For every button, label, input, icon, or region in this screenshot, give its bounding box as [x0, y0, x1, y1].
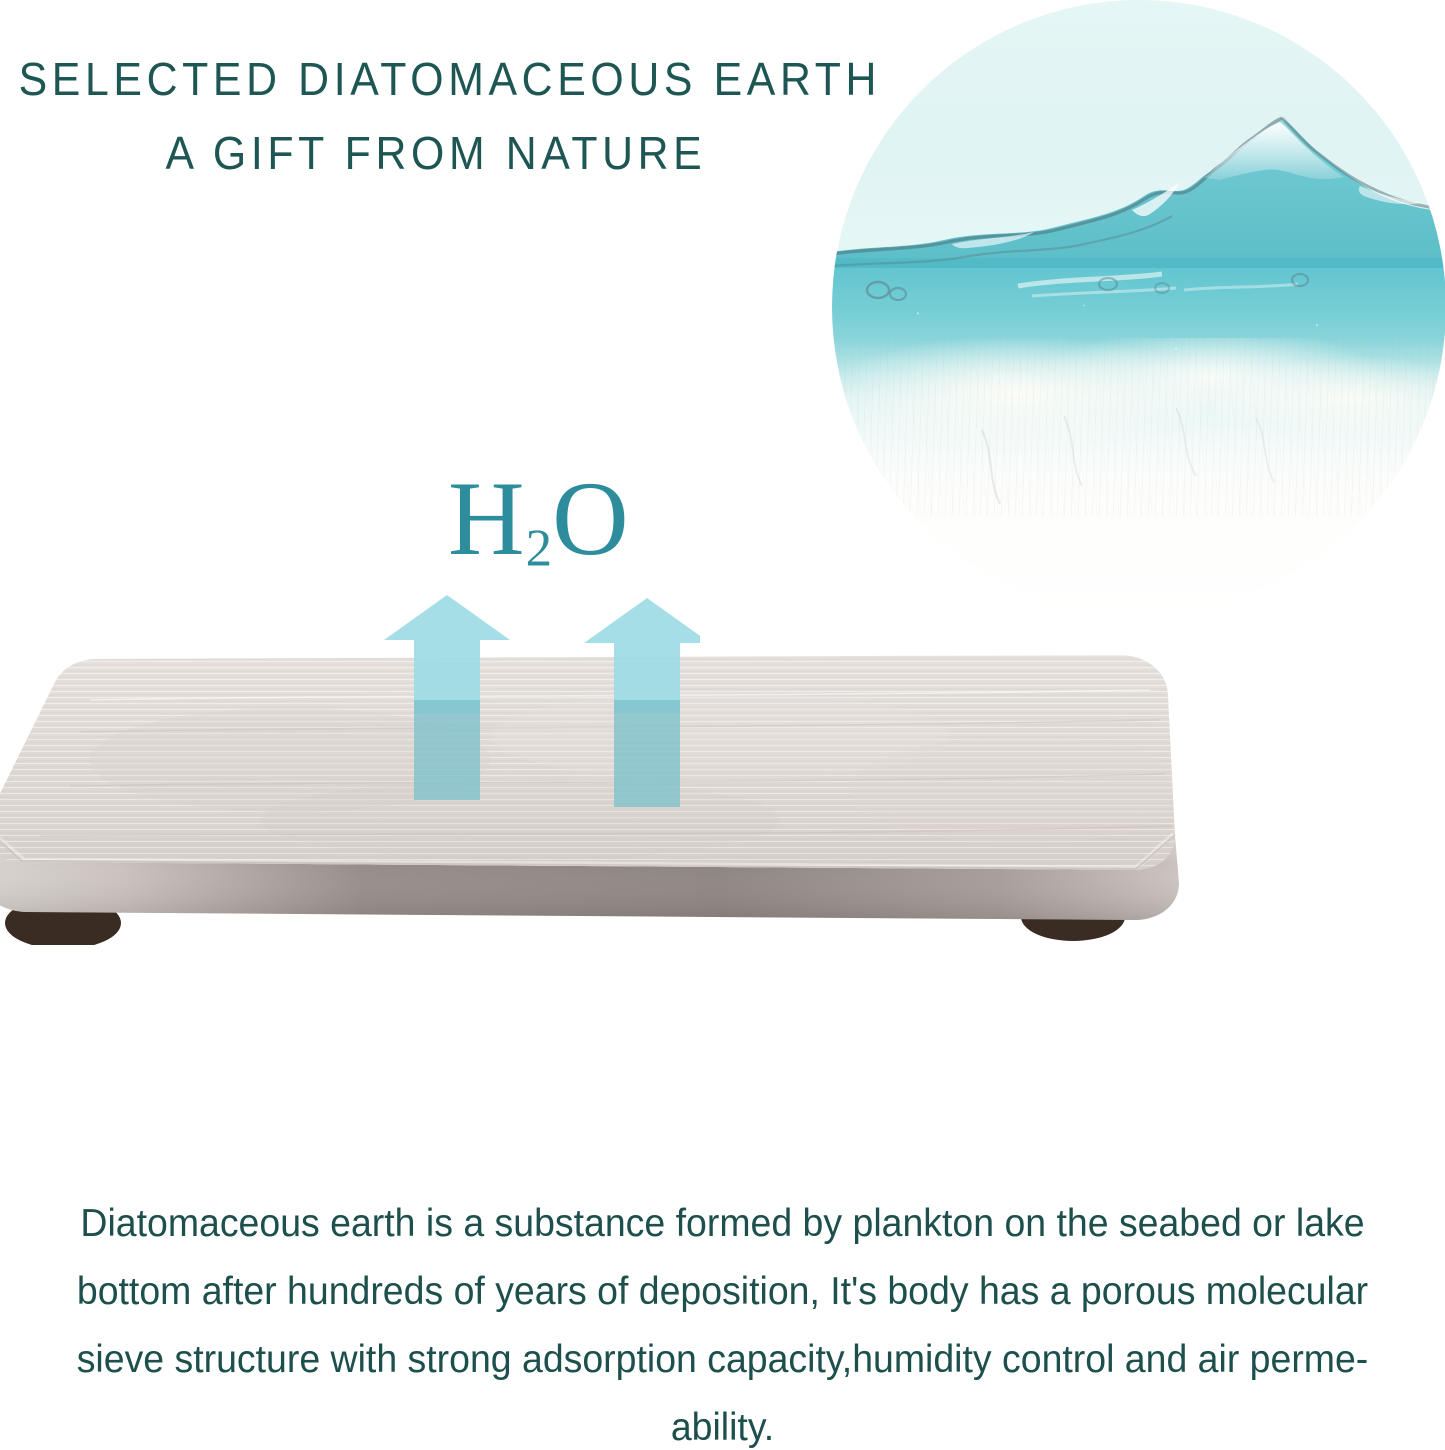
caption-line-3: sieve structure with strong adsorption c… [29, 1326, 1416, 1394]
water-splash-crest-icon [832, 0, 1445, 614]
caption-line-2: bottom after hundreds of years of deposi… [29, 1258, 1416, 1326]
up-arrow-shaft-over-mat-group [360, 700, 700, 812]
water-with-settled-powder-circle [832, 0, 1445, 614]
up-arrow-icon-group [360, 588, 700, 713]
h2o-label: H2O [448, 466, 630, 572]
arrow-shaft-right-over-mat [614, 700, 680, 807]
caption-line-4: ability. [29, 1394, 1416, 1450]
up-arrow-icon-left [384, 595, 510, 713]
up-arrow-icon-right [584, 598, 700, 713]
headline-line-2: A GIFT FROM NATURE [166, 116, 707, 190]
h2o-main: H [448, 460, 526, 577]
headline-line-1: SELECTED DIATOMACEOUS EARTH [19, 42, 881, 116]
caption-block: Diatomaceous earth is a substance formed… [29, 1190, 1416, 1450]
arrow-shaft-left-over-mat [414, 700, 480, 800]
h2o-subscript: 2 [526, 520, 553, 578]
caption-line-1: Diatomaceous earth is a substance formed… [29, 1190, 1416, 1258]
h2o-tail: O [552, 460, 630, 577]
infographic-canvas: SELECTED DIATOMACEOUS EARTH A GIFT FROM … [0, 0, 1445, 1450]
